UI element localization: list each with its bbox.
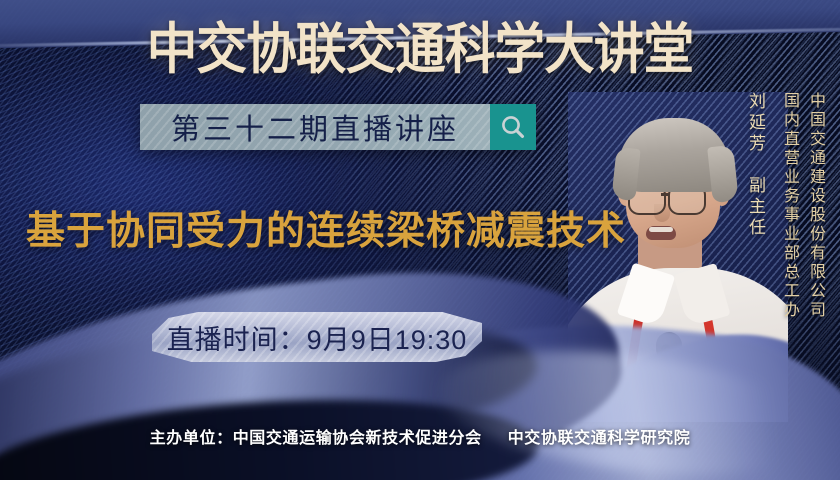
- organizer-label: 主办单位：: [150, 430, 233, 447]
- search-icon[interactable]: [490, 104, 536, 150]
- speaker-credits: 刘延芳 副主任 国内直营业务事业部总工办 中国交通建设股份有限公司: [744, 92, 826, 320]
- lecture-topic: 基于协同受力的连续梁桥减震技术: [26, 208, 626, 256]
- episode-banner-body: 第三十二期直播讲座: [140, 104, 490, 150]
- broadcast-time-text: 直播时间：9月9日19:30: [167, 318, 468, 357]
- broadcast-time-badge: 直播时间：9月9日19:30: [152, 312, 482, 362]
- speaker-department: 国内直营业务事业部总工办: [778, 92, 800, 320]
- organizers-footer: 主办单位：中国交通运输协会新技术促进分会中交协联交通科学研究院: [0, 424, 840, 448]
- organizer-name-1: 中国交通运输协会新技术促进分会: [233, 430, 482, 447]
- page-title: 中交协联交通科学大讲堂: [34, 18, 807, 80]
- speaker-teeth: [649, 227, 673, 232]
- speaker-glasses-bridge: [661, 193, 670, 196]
- episode-label: 第三十二期直播讲座: [171, 106, 459, 148]
- live-lecture-poster: 中交协联交通科学大讲堂 第三十二期直播讲座 基于协同受力的连续梁桥减震技术 直播…: [0, 0, 840, 480]
- episode-banner: 第三十二期直播讲座: [140, 104, 536, 150]
- speaker-company: 中国交通建设股份有限公司: [804, 92, 826, 320]
- speaker-name-title: 刘延芳 副主任: [744, 92, 766, 239]
- organizer-name-2: 中交协联交通科学研究院: [508, 430, 691, 447]
